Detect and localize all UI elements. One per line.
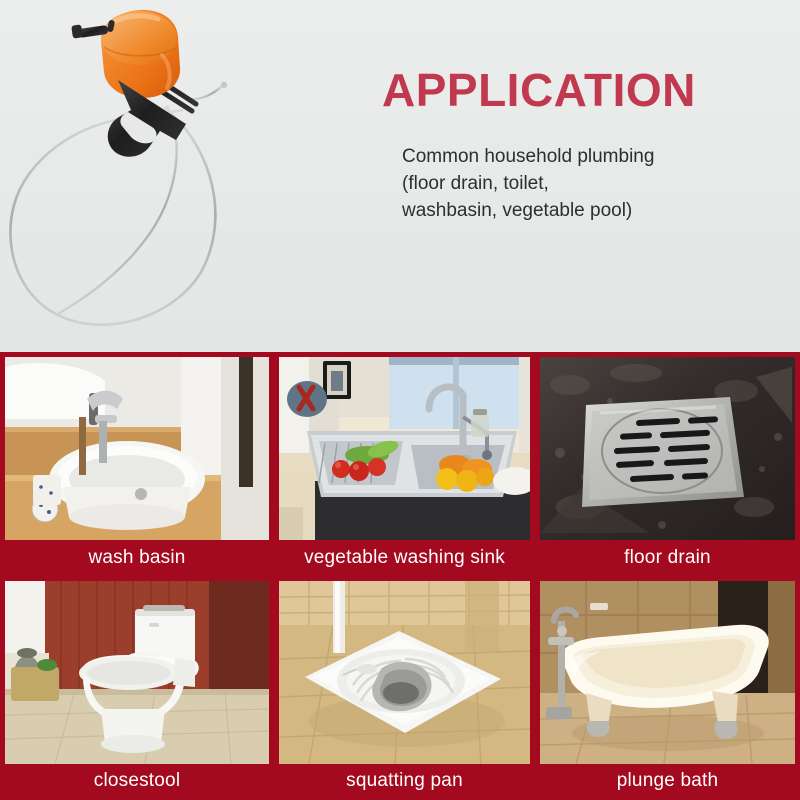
caption-squatting-pan: squatting pan [274,760,535,800]
page-title: APPLICATION [382,66,782,114]
grid-cell-wash-basin[interactable]: wash basin [0,352,274,576]
application-description: Common household plumbing (floor drain, … [382,114,782,224]
wash-basin-photo [5,357,269,540]
squatting-pan-photo [279,581,530,764]
closestool-photo [5,581,269,764]
grid-cell-floor-drain[interactable]: floor drain [535,352,800,576]
grid-cell-vegetable-washing-sink[interactable]: vegetable washing sink [274,352,535,576]
plunge-bath-photo [540,581,795,764]
header-section: APPLICATION Common household plumbing (f… [0,0,800,352]
caption-floor-drain: floor drain [535,540,800,576]
floor-drain-photo [540,357,795,540]
product-image-drain-auger [0,0,260,350]
caption-closestool: closestool [0,760,274,800]
caption-plunge-bath: plunge bath [535,760,800,800]
grid-cell-squatting-pan[interactable]: squatting pan [274,576,535,800]
grid-cell-plunge-bath[interactable]: plunge bath [535,576,800,800]
caption-wash-basin: wash basin [0,540,274,576]
application-photo-grid: wash basin [0,352,800,800]
caption-vegetable-washing-sink: vegetable washing sink [274,540,535,576]
vegetable-washing-sink-photo [279,357,530,540]
header-text-block: APPLICATION Common household plumbing (f… [382,66,782,224]
grid-cell-closestool[interactable]: closestool [0,576,274,800]
cable-tip [221,82,227,88]
application-infographic: APPLICATION Common household plumbing (f… [0,0,800,800]
